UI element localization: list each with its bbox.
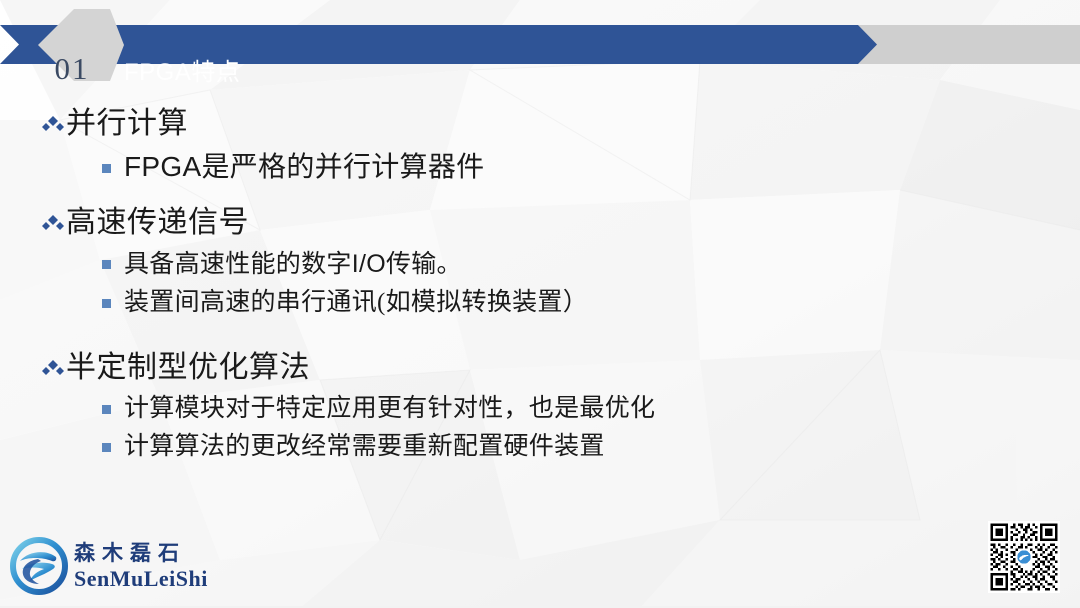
company-logo: 森木磊石 SenMuLeiShi <box>8 533 208 599</box>
logo-text: 森木磊石 SenMuLeiShi <box>74 540 208 592</box>
bullet-level2-text: 装置间高速的串行通讯(如模拟转换装置） <box>124 284 588 322</box>
section-number: 01 <box>34 41 110 97</box>
bullet-level2: 具备高速性能的数字I/O传输。 <box>102 245 900 284</box>
logo-emblem-icon <box>8 535 70 597</box>
cjk-suffix: 传输。 <box>386 251 462 278</box>
qr-code-image <box>988 521 1060 593</box>
bullet-level1-text: 并行计算 <box>66 102 188 146</box>
latin-term: FPGA <box>124 151 201 182</box>
page-title: FPGA特点 <box>124 50 240 89</box>
bullet-level1: 高速传递信号 <box>40 201 900 245</box>
square-bullet-icon <box>102 390 124 428</box>
bullet-level2-text: 计算算法的更改经常需要重新配置硬件装置 <box>124 428 605 466</box>
bullet-level1: 并行计算 <box>40 102 900 146</box>
bullet-level2: FPGA是严格的并行计算器件 <box>102 146 900 189</box>
bullet-level1-text: 高速传递信号 <box>66 201 249 245</box>
diamond-bullet-icon <box>40 102 66 146</box>
bullet-level2: 装置间高速的串行通讯(如模拟转换装置） <box>102 284 900 322</box>
diamond-bullet-icon <box>40 346 66 390</box>
bullet-level1-text: 半定制型优化算法 <box>66 346 310 390</box>
latin-term: I/O <box>352 250 386 278</box>
qr-code[interactable] <box>988 521 1060 593</box>
bullet-level2-text: 计算模块对于特定应用更有针对性，也是最优化 <box>124 390 655 428</box>
bullet-level1: 半定制型优化算法 <box>40 346 900 390</box>
bullet-level2-text: 具备高速性能的数字I/O传输。 <box>124 245 462 284</box>
logo-name-cn: 森木磊石 <box>74 540 208 566</box>
logo-name-en: SenMuLeiShi <box>74 566 208 592</box>
square-bullet-icon <box>102 428 124 466</box>
slide-header: 01 FPGA特点 <box>0 25 1080 64</box>
square-bullet-icon <box>102 245 124 283</box>
bullet-level2: 计算模块对于特定应用更有针对性，也是最优化 <box>102 390 900 428</box>
bullet-level2-text: FPGA是严格的并行计算器件 <box>124 146 484 189</box>
square-bullet-icon <box>102 146 124 188</box>
slide-body: 并行计算 FPGA是严格的并行计算器件 高速传递信号 具备高速性能的数字I/O传… <box>40 100 900 466</box>
square-bullet-icon <box>102 284 124 322</box>
diamond-bullet-icon <box>40 201 66 245</box>
cjk-term: 是严格的并行计算器件 <box>201 152 484 183</box>
slide: 01 FPGA特点 并行计算 FPGA是严格的并行计算器件 <box>0 0 1080 608</box>
cjk-prefix: 具备高速性能的数字 <box>124 251 352 278</box>
bullet-level2: 计算算法的更改经常需要重新配置硬件装置 <box>102 428 900 466</box>
